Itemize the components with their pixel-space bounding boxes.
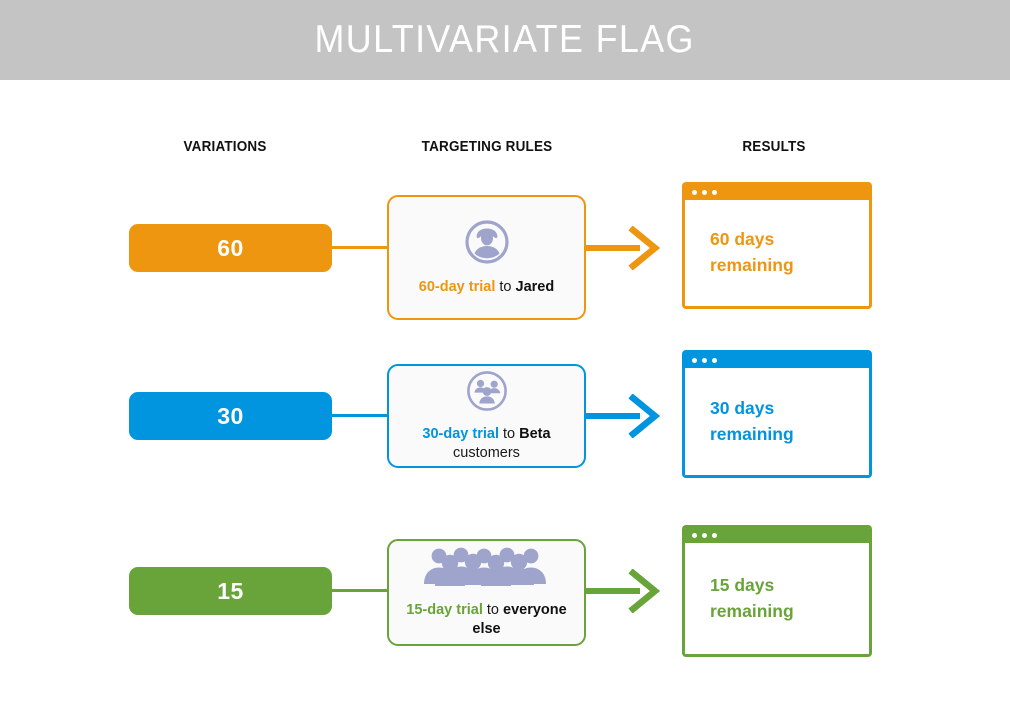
crowd-of-people-icon	[421, 546, 553, 593]
result-window[interactable]: 30 days remaining	[682, 350, 872, 478]
variation-pill[interactable]: 60	[129, 224, 332, 272]
result-text: 30 days remaining	[710, 396, 794, 448]
arrow-right-icon	[585, 394, 660, 438]
column-header-results: RESULTS	[681, 139, 867, 155]
variation-pill[interactable]: 30	[129, 392, 332, 440]
result-window[interactable]: 60 days remaining	[682, 182, 872, 309]
titlebar-dot-icon	[692, 190, 697, 195]
targeting-rule-card[interactable]: 60-day trial to Jared	[387, 195, 586, 320]
user-group-circle-icon	[466, 370, 508, 417]
variation-pill[interactable]: 15	[129, 567, 332, 615]
titlebar-dot-icon	[712, 190, 717, 195]
rule-audience-label: Beta	[519, 426, 550, 442]
flag-row: 15	[0, 503, 1010, 683]
rule-connector-word: to	[495, 279, 515, 295]
targeting-rule-card[interactable]: 15-day trial to everyone else	[387, 539, 586, 646]
connector-line-left	[332, 246, 388, 249]
rule-audience-suffix-label: customers	[453, 445, 520, 461]
trial-duration-label: 60-day trial	[419, 279, 496, 295]
header-band: MULTIVARIATE FLAG	[0, 0, 1010, 80]
rule-audience-label: Jared	[516, 279, 555, 295]
window-titlebar	[685, 353, 869, 368]
targeting-rule-text: 15-day trial to everyone else	[401, 601, 572, 638]
result-text: 15 days remaining	[710, 573, 794, 625]
result-window[interactable]: 15 days remaining	[682, 525, 872, 657]
result-text: 60 days remaining	[710, 227, 794, 279]
rule-connector-word: to	[483, 602, 503, 618]
column-header-targeting-rules: TARGETING RULES	[394, 139, 580, 155]
rule-connector-word: to	[499, 426, 519, 442]
titlebar-dot-icon	[692, 358, 697, 363]
arrow-right-icon	[585, 569, 660, 613]
trial-duration-label: 15-day trial	[406, 602, 483, 618]
titlebar-dot-icon	[702, 533, 707, 538]
window-titlebar	[685, 528, 869, 543]
flag-row: 60 60-day trial to Jared 60 days remaini…	[0, 160, 1010, 340]
single-user-avatar-icon	[464, 219, 510, 270]
titlebar-dot-icon	[702, 358, 707, 363]
flag-row: 30 30-day trial to Beta customers	[0, 328, 1010, 508]
connector-line-left	[332, 589, 388, 592]
arrow-right-icon	[585, 226, 660, 270]
page-title: MULTIVARIATE FLAG	[315, 18, 695, 62]
window-body: 15 days remaining	[685, 543, 869, 654]
variation-value: 15	[217, 578, 244, 605]
column-header-variations: VARIATIONS	[132, 139, 318, 155]
connector-line-left	[332, 414, 388, 417]
titlebar-dot-icon	[692, 533, 697, 538]
window-body: 30 days remaining	[685, 368, 869, 475]
window-titlebar	[685, 185, 869, 200]
titlebar-dot-icon	[702, 190, 707, 195]
titlebar-dot-icon	[712, 533, 717, 538]
variation-value: 60	[217, 235, 244, 262]
window-body: 60 days remaining	[685, 200, 869, 306]
trial-duration-label: 30-day trial	[422, 426, 499, 442]
titlebar-dot-icon	[712, 358, 717, 363]
variation-value: 30	[217, 403, 244, 430]
targeting-rule-card[interactable]: 30-day trial to Beta customers	[387, 364, 586, 468]
targeting-rule-text: 60-day trial to Jared	[419, 278, 554, 297]
targeting-rule-text: 30-day trial to Beta customers	[401, 425, 572, 462]
